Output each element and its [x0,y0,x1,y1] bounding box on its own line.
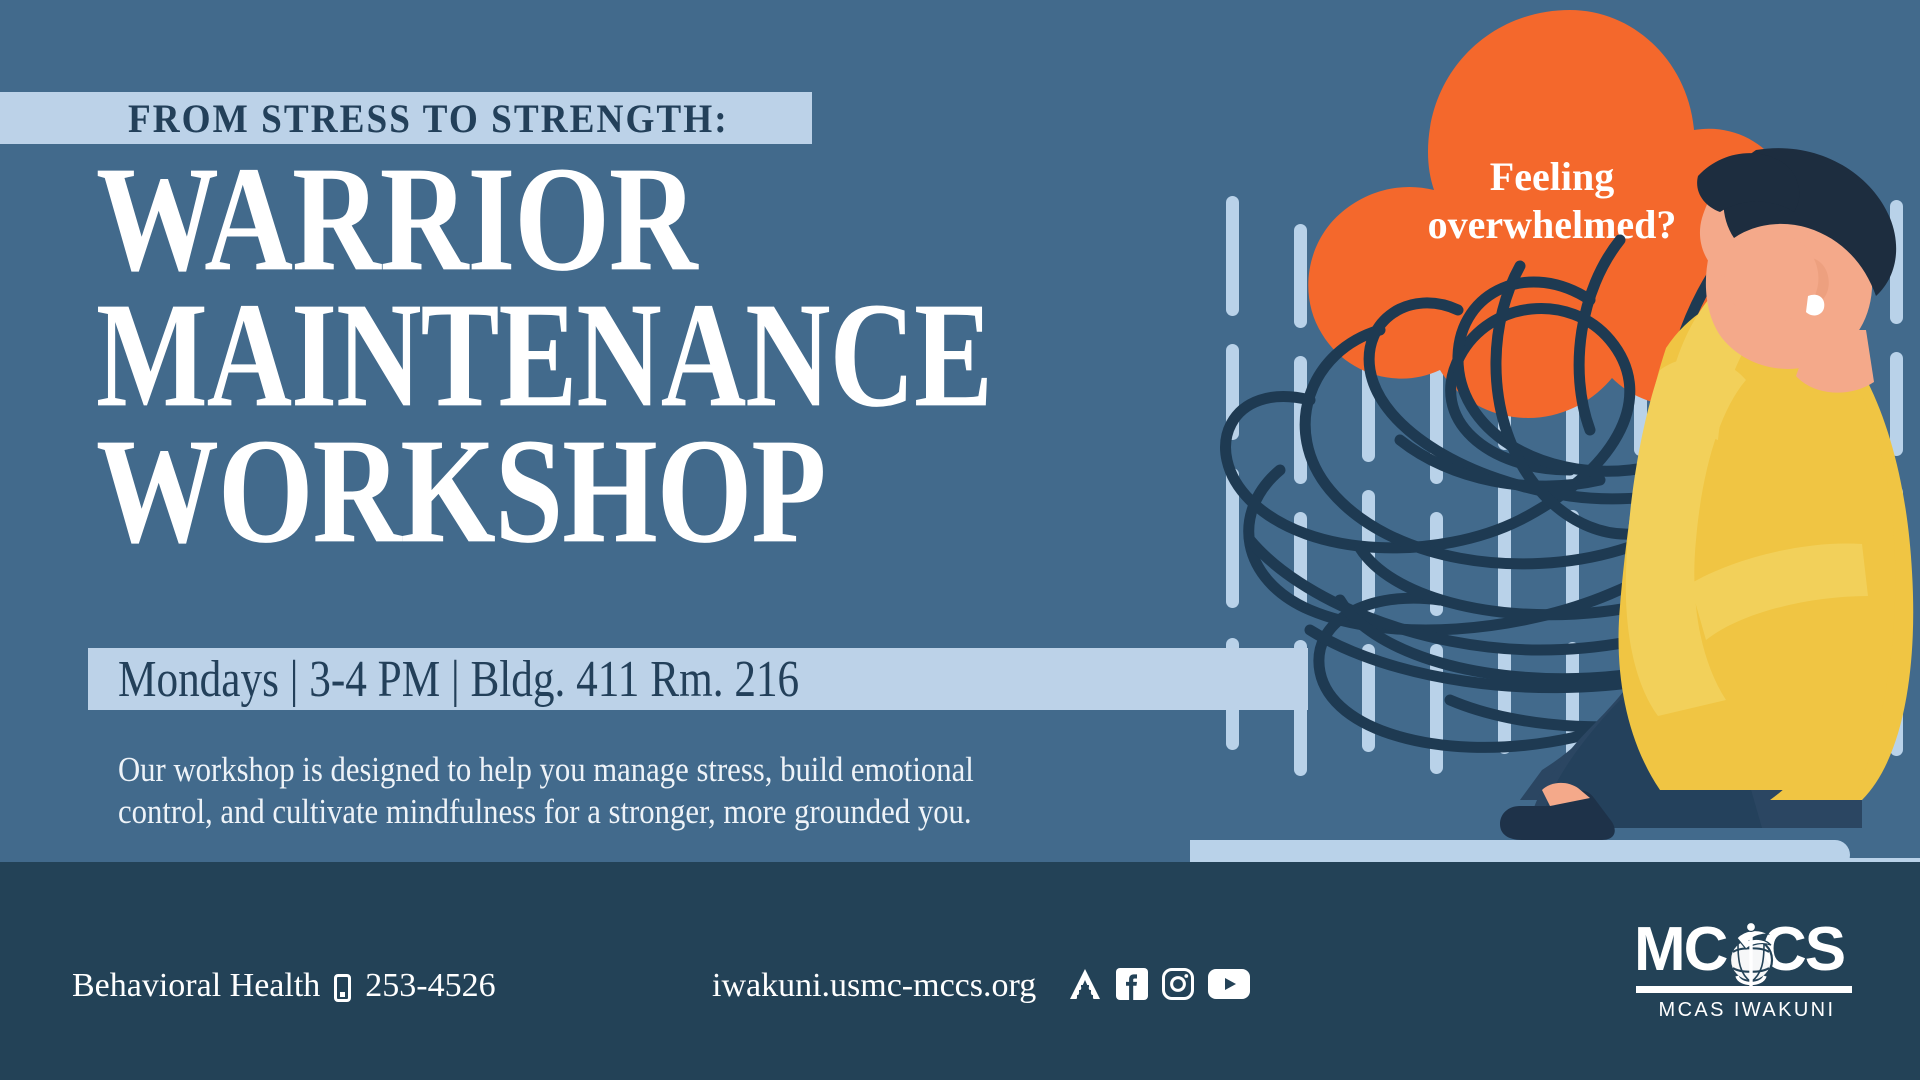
contact-info: Behavioral Health 253-4526 [72,966,496,1006]
instagram-icon[interactable] [1162,968,1194,1000]
description-text: Our workshop is designed to help you man… [118,748,1178,832]
mccs-wordmark-2: CS [1762,916,1844,984]
cloud-caption-line1: Feeling [1490,154,1614,199]
eyebrow-text: FROM STRESS TO STRENGTH: [128,96,779,142]
logo-rule [1636,986,1852,993]
mccs-wordmark: MC [1634,916,1728,984]
contact-label: Behavioral Health [72,966,320,1006]
mobile-phone-icon [334,974,351,1002]
stress-illustration: Feeling overwhelmed? [1190,0,1920,880]
website-url[interactable]: iwakuni.usmc-mccs.org [712,966,1036,1006]
headline-line-2: MAINTENANCE [96,288,1218,423]
phone-number[interactable]: 253-4526 [365,966,495,1006]
facebook-icon[interactable] [1116,968,1148,1000]
description-line-1: Our workshop is designed to help you man… [118,746,1136,791]
page-title: WARRIOR MAINTENANCE WORKSHOP [96,168,1196,544]
mccs-app-icon[interactable] [1068,968,1102,1000]
headline-line-3: WORKSHOP [96,424,1262,559]
schedule-text: Mondays | 3-4 PM | Bldg. 411 Rm. 216 [118,647,799,712]
social-links [1068,968,1250,1000]
poster-canvas: Feeling overwhelmed? [0,0,1920,1080]
youtube-icon[interactable] [1208,969,1250,999]
mccs-logo: MC CS MCAS IWAKUNI [1634,916,1860,1026]
logo-subtitle: MCAS IWAKUNI [1659,999,1836,1021]
cloud-caption-line2: overwhelmed? [1428,202,1677,247]
description-line-2: control, and cultivate mindfulness for a… [118,788,1136,833]
headline-line-1: WARRIOR [96,152,1262,287]
